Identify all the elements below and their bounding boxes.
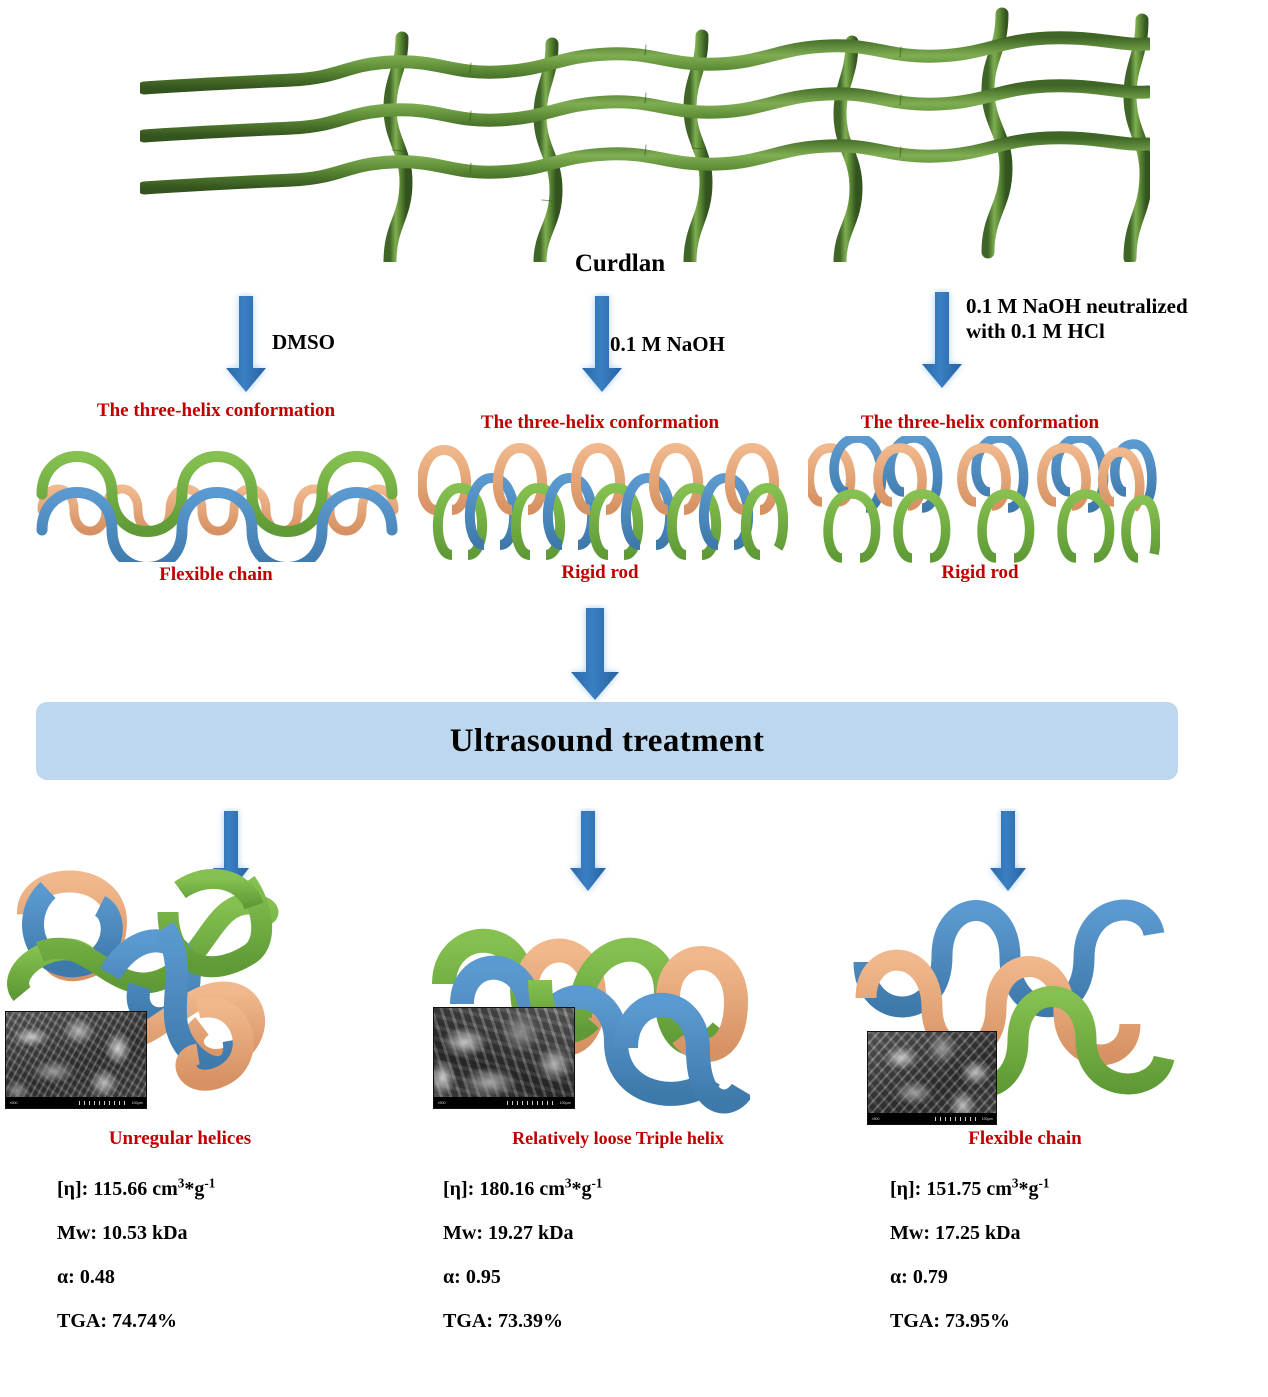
stat-key: [η]:	[443, 1178, 474, 1200]
stat-alpha: α: 0.95	[443, 1266, 602, 1289]
helix-naoh-hcl	[808, 436, 1160, 564]
sem-mag-label: ×500	[9, 1100, 17, 1105]
stat-sup2: -1	[204, 1175, 215, 1190]
sem-scale-label: 100µm	[131, 1100, 142, 1105]
stat-value: 73.39%	[498, 1310, 563, 1332]
stat-value: 0.79	[913, 1266, 948, 1288]
result-title-naoh-hcl: Flexible chain	[880, 1128, 1170, 1151]
arrow-to-ultrasound	[562, 604, 628, 704]
stat-tga: TGA: 73.95%	[890, 1310, 1049, 1333]
stat-key: Mw:	[443, 1222, 483, 1244]
arrow-result-naoh	[565, 808, 611, 894]
stat-intrinsic-viscosity: [η]: 180.16 cm3*g-1	[443, 1178, 602, 1201]
stat-mid: *g	[184, 1178, 204, 1200]
stat-key: [η]:	[57, 1178, 88, 1200]
stat-key: α:	[57, 1266, 75, 1288]
conformation-top-label-naoh-hcl: The three-helix conformation	[800, 412, 1160, 435]
stat-value: 151.75 cm	[926, 1178, 1012, 1200]
sem-micrograph-dmso: ×500 100µm	[6, 1012, 146, 1108]
stat-sup2: -1	[591, 1175, 602, 1190]
sem-micrograph-naoh-hcl: ×500 100µm	[868, 1032, 996, 1124]
stat-mid: *g	[1018, 1178, 1038, 1200]
sem-scale-label: 100µm	[559, 1100, 570, 1105]
stat-value: 0.95	[466, 1266, 501, 1288]
arrow-label-naoh-hcl: 0.1 M NaOH neutralized with 0.1 M HCl	[966, 294, 1188, 344]
stat-intrinsic-viscosity: [η]: 115.66 cm3*g-1	[57, 1178, 215, 1201]
curdlan-label: Curdlan	[500, 250, 740, 278]
stat-value: 180.16 cm	[479, 1178, 565, 1200]
ultrasound-treatment-label: Ultrasound treatment	[450, 723, 764, 760]
stat-tga: TGA: 74.74%	[57, 1310, 215, 1333]
result-stats-naoh: [η]: 180.16 cm3*g-1 Mw: 19.27 kDa α: 0.9…	[443, 1178, 602, 1333]
stat-mw: Mw: 19.27 kDa	[443, 1222, 602, 1245]
stat-alpha: α: 0.48	[57, 1266, 215, 1289]
result-stats-naoh-hcl: [η]: 151.75 cm3*g-1 Mw: 17.25 kDa α: 0.7…	[890, 1178, 1049, 1333]
stat-key: Mw:	[57, 1222, 97, 1244]
stat-mid: *g	[571, 1178, 591, 1200]
stat-intrinsic-viscosity: [η]: 151.75 cm3*g-1	[890, 1178, 1049, 1201]
stat-mw: Mw: 17.25 kDa	[890, 1222, 1049, 1245]
sem-mag-label: ×500	[871, 1116, 879, 1121]
stat-key: α:	[890, 1266, 908, 1288]
stat-value: 115.66 cm	[93, 1178, 177, 1200]
stat-key: Mw:	[890, 1222, 930, 1244]
helix-naoh	[418, 440, 788, 565]
arrow-label-naoh: 0.1 M NaOH	[610, 332, 725, 357]
conformation-top-label-dmso: The three-helix conformation	[36, 400, 396, 423]
stat-mw: Mw: 10.53 kDa	[57, 1222, 215, 1245]
arrow-naoh-hcl	[918, 288, 966, 392]
conformation-bottom-label-dmso: Flexible chain	[36, 564, 396, 587]
stat-value: 74.74%	[112, 1310, 177, 1332]
stat-key: TGA:	[443, 1310, 493, 1332]
conformation-top-label-naoh: The three-helix conformation	[420, 412, 780, 435]
stat-tga: TGA: 73.39%	[443, 1310, 602, 1333]
stat-value: 10.53 kDa	[102, 1222, 188, 1244]
stat-key: TGA:	[57, 1310, 107, 1332]
sem-mag-label: ×500	[437, 1100, 445, 1105]
sem-scale-label: 100µm	[981, 1116, 992, 1121]
result-stats-dmso: [η]: 115.66 cm3*g-1 Mw: 10.53 kDa α: 0.4…	[57, 1178, 215, 1333]
stat-sup2: -1	[1038, 1175, 1049, 1190]
curdlan-network-diagram	[140, 0, 1150, 262]
arrow-label-dmso: DMSO	[272, 330, 335, 355]
helix-dmso	[34, 432, 402, 562]
sem-micrograph-naoh: ×500 100µm	[434, 1008, 574, 1108]
stat-alpha: α: 0.79	[890, 1266, 1049, 1289]
ultrasound-treatment-banner: Ultrasound treatment	[36, 702, 1178, 780]
stat-value: 73.95%	[945, 1310, 1010, 1332]
arrow-result-naoh-hcl	[985, 808, 1031, 894]
stat-value: 17.25 kDa	[935, 1222, 1021, 1244]
stat-value: 0.48	[80, 1266, 115, 1288]
result-title-dmso: Unregular helices	[30, 1128, 330, 1151]
conformation-bottom-label-naoh-hcl: Rigid rod	[800, 562, 1160, 585]
stat-key: TGA:	[890, 1310, 940, 1332]
stat-value: 19.27 kDa	[488, 1222, 574, 1244]
conformation-bottom-label-naoh: Rigid rod	[420, 562, 780, 585]
arrow-dmso	[222, 292, 270, 396]
result-title-naoh: Relatively loose Triple helix	[418, 1128, 818, 1150]
stat-key: [η]:	[890, 1178, 921, 1200]
stat-key: α:	[443, 1266, 461, 1288]
